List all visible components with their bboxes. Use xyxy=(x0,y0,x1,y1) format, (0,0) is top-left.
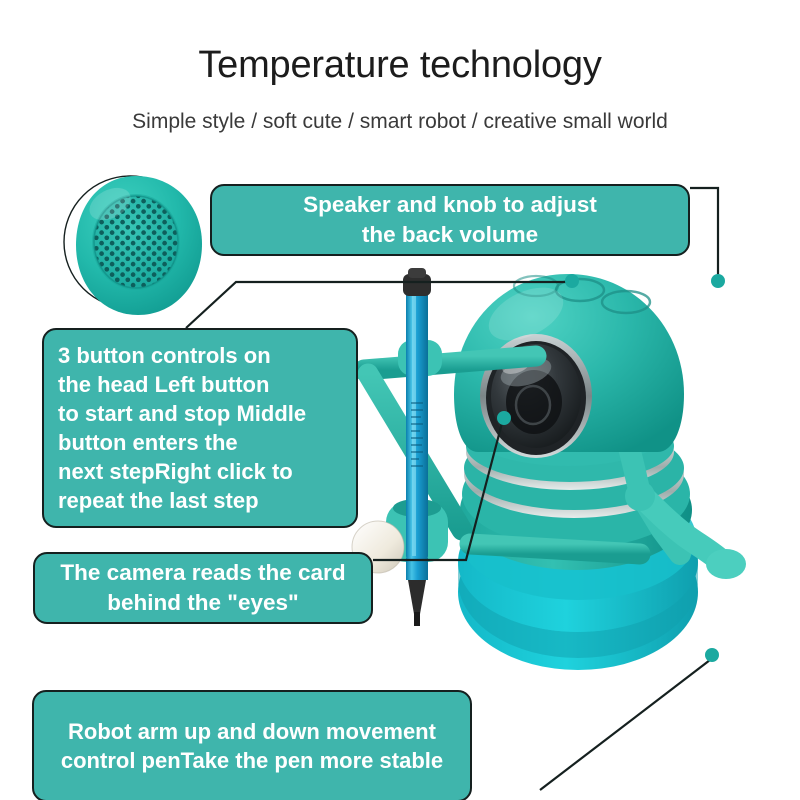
callout-camera[interactable]: The camera reads the card behind the "ey… xyxy=(33,552,373,624)
pen-tip-cone xyxy=(408,580,426,614)
page-title: Temperature technology xyxy=(0,44,800,87)
callout-camera-line-1: The camera reads the card xyxy=(49,558,357,588)
callout-buttons-line-4: button enters the xyxy=(58,428,342,457)
arm-upper-bar xyxy=(364,356,536,370)
callout-buttons-line-2: the head Left button xyxy=(58,370,342,399)
callout-buttons-line-1: 3 button controls on xyxy=(58,341,342,370)
callout-arm-line-1: Robot arm up and down movement xyxy=(48,717,456,746)
callout-buttons-line-5: next stepRight click to xyxy=(58,457,342,486)
speaker-illustration xyxy=(62,172,210,320)
callout-buttons[interactable]: 3 button controls on the head Left butto… xyxy=(42,328,358,528)
callout-speaker-line-2: the back volume xyxy=(226,220,674,250)
callout-buttons-line-3: to start and stop Middle xyxy=(58,399,342,428)
callout-arm[interactable]: Robot arm up and down movement control p… xyxy=(32,690,472,800)
blue-pen[interactable] xyxy=(403,268,431,626)
callout-arm-line-2: control penTake the pen more stable xyxy=(48,746,456,775)
callout-speaker-line-1: Speaker and knob to adjust xyxy=(226,190,674,220)
arm-lower-bar xyxy=(470,544,640,554)
callout-camera-line-2: behind the "eyes" xyxy=(49,588,357,618)
product-infographic: Temperature technology Simple style / so… xyxy=(0,0,800,800)
callout-buttons-line-6: repeat the last step xyxy=(58,486,342,515)
robot-illustration xyxy=(340,262,770,682)
page-subtitle: Simple style / soft cute / smart robot /… xyxy=(0,110,800,134)
pen-tip xyxy=(414,612,420,626)
pen-lower-barrel xyxy=(406,558,428,580)
pen-cap-top xyxy=(408,268,426,278)
callout-speaker[interactable]: Speaker and knob to adjust the back volu… xyxy=(210,184,690,256)
